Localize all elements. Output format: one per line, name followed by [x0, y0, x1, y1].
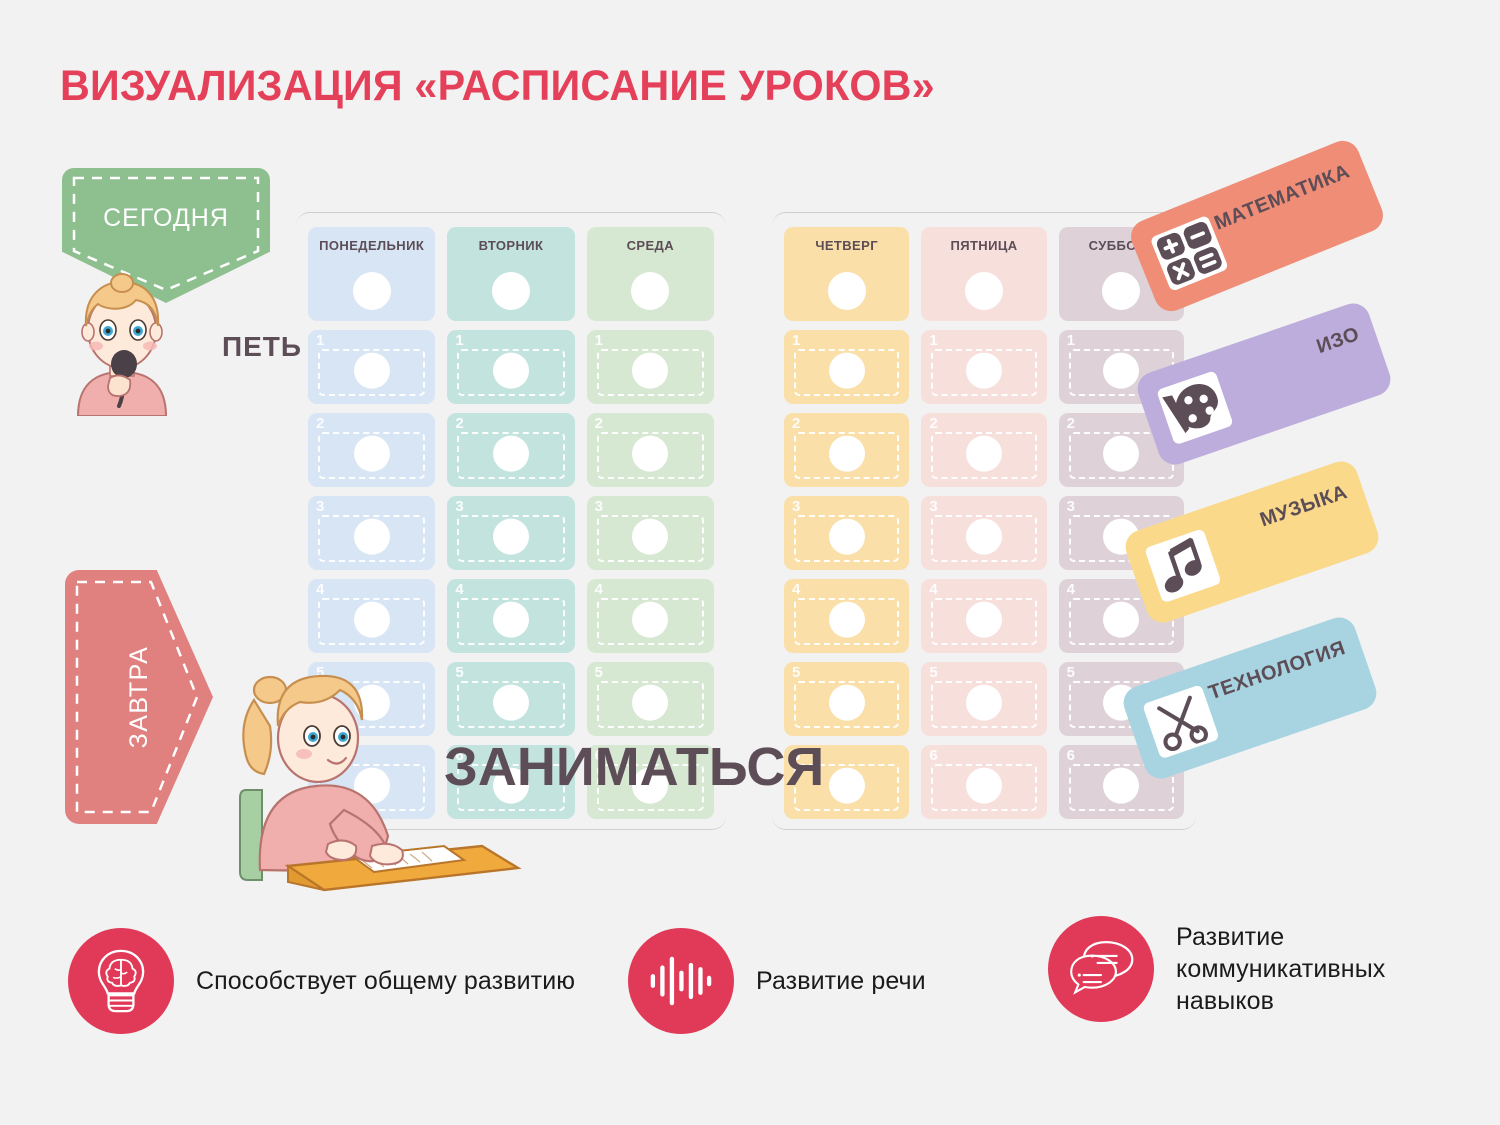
day-header[interactable]: СРЕДА [587, 227, 714, 321]
lesson-slot[interactable]: 2 [921, 413, 1046, 487]
lesson-slot-dot [1103, 768, 1139, 804]
word-study: ЗАНИМАТЬСЯ [444, 736, 824, 798]
lesson-slot-dot [1103, 602, 1139, 638]
lesson-slot-number: 2 [595, 415, 603, 432]
lesson-slot-number: 4 [455, 581, 463, 598]
lesson-slot[interactable]: 4 [587, 579, 714, 653]
badge-tomorrow-label: ЗАВТРА [12, 623, 266, 771]
badge-today-label: СЕГОДНЯ [103, 204, 229, 233]
lesson-slot-number: 1 [929, 332, 937, 349]
lesson-slot-dot [632, 518, 668, 554]
lesson-slot-dot [632, 352, 668, 388]
day-marker-dot [631, 272, 669, 310]
scissors-icon [1142, 684, 1220, 759]
day-name: ПОНЕДЕЛЬНИК [319, 238, 424, 253]
subject-label: МУЗЫКА [1257, 481, 1350, 532]
lesson-slot-number: 3 [316, 498, 324, 515]
feature-speech-development: Развитие речи [628, 928, 1028, 1034]
day-header[interactable]: ВТОРНИК [447, 227, 574, 321]
day-marker-dot [492, 272, 530, 310]
day-header[interactable]: ПОНЕДЕЛЬНИК [308, 227, 435, 321]
lesson-slot[interactable]: 1 [308, 330, 435, 404]
lesson-slot-dot [354, 352, 390, 388]
lesson-slot-number: 2 [792, 415, 800, 432]
subject-card-math[interactable]: МАТЕМАТИКА [1126, 136, 1388, 316]
lesson-slot-number: 2 [455, 415, 463, 432]
badge-tomorrow[interactable]: ЗАВТРА [65, 570, 213, 824]
lesson-slot[interactable]: 4 [308, 579, 435, 653]
lesson-slot[interactable]: 2 [308, 413, 435, 487]
lesson-slot-dot [829, 685, 865, 721]
lesson-slot-number: 4 [929, 581, 937, 598]
infographic-canvas: ВИЗУАЛИЗАЦИЯ «РАСПИСАНИЕ УРОКОВ» СЕГОДНЯ [0, 0, 1500, 1125]
palette-icon [1156, 370, 1234, 445]
lesson-slot-dot [829, 602, 865, 638]
lesson-slot[interactable]: 4 [784, 579, 909, 653]
sound-wave-icon [628, 928, 734, 1034]
day-marker-dot [353, 272, 391, 310]
lesson-slot[interactable]: 2 [784, 413, 909, 487]
day-name: ЧЕТВЕРГ [815, 238, 878, 253]
lesson-slot-dot [632, 435, 668, 471]
lesson-slot-dot [493, 602, 529, 638]
lesson-slot-dot [354, 435, 390, 471]
schedule-column: ПЯТНИЦА123456 [921, 227, 1046, 819]
lesson-slot[interactable]: 5 [921, 662, 1046, 736]
lesson-slot-number: 1 [1067, 332, 1075, 349]
lesson-slot-dot [829, 352, 865, 388]
feature-general-development: Способствует общему развитию [68, 928, 588, 1034]
lesson-slot[interactable]: 1 [447, 330, 574, 404]
child-singing-microphone-illustration [56, 268, 188, 416]
lesson-slot-number: 1 [792, 332, 800, 349]
lesson-slot-number: 6 [929, 747, 937, 764]
lesson-slot-number: 5 [929, 664, 937, 681]
lesson-slot[interactable]: 3 [447, 496, 574, 570]
lesson-slot-number: 1 [595, 332, 603, 349]
lesson-slot-number: 4 [1067, 581, 1075, 598]
speech-bubbles-icon [1048, 916, 1154, 1022]
lesson-slot[interactable]: 5 [784, 662, 909, 736]
lesson-slot-dot [966, 435, 1002, 471]
lesson-slot-number: 3 [455, 498, 463, 515]
lesson-slot[interactable]: 4 [447, 579, 574, 653]
lesson-slot-number: 5 [792, 664, 800, 681]
lesson-slot[interactable]: 3 [308, 496, 435, 570]
lesson-slot-number: 5 [1067, 664, 1075, 681]
subject-label: ИЗО [1314, 323, 1363, 359]
lesson-slot[interactable]: 5 [587, 662, 714, 736]
lesson-slot[interactable]: 1 [921, 330, 1046, 404]
lesson-slot[interactable]: 1 [587, 330, 714, 404]
feature-text: Развитие коммуникативных навыков [1176, 921, 1488, 1017]
lesson-slot-number: 3 [1067, 498, 1075, 515]
lesson-slot-number: 2 [929, 415, 937, 432]
lesson-slot-number: 3 [595, 498, 603, 515]
subject-label: МАТЕМАТИКА [1211, 160, 1353, 235]
day-marker-dot [828, 272, 866, 310]
lesson-slot-dot [493, 435, 529, 471]
lesson-slot[interactable]: 1 [784, 330, 909, 404]
feature-communication-skills: Развитие коммуникативных навыков [1048, 916, 1488, 1022]
day-header[interactable]: ЧЕТВЕРГ [784, 227, 909, 321]
lesson-slot[interactable]: 2 [447, 413, 574, 487]
lesson-slot-number: 4 [595, 581, 603, 598]
day-marker-dot [1102, 272, 1140, 310]
lesson-slot-dot [354, 518, 390, 554]
schedule-panel-right: ЧЕТВЕРГ123456ПЯТНИЦА123456СУББОТА123456 [772, 212, 1196, 830]
lesson-slot-dot [493, 518, 529, 554]
day-name: ПЯТНИЦА [950, 238, 1017, 253]
lesson-slot-dot [354, 602, 390, 638]
lesson-slot-dot [829, 768, 865, 804]
lesson-slot-dot [493, 352, 529, 388]
lesson-slot-dot [966, 602, 1002, 638]
subject-label: ТЕХНОЛОГИЯ [1206, 637, 1349, 705]
schedule-column: СРЕДА123456 [587, 227, 714, 819]
lesson-slot-dot [966, 685, 1002, 721]
lesson-slot[interactable]: 4 [921, 579, 1046, 653]
lesson-slot-dot [966, 768, 1002, 804]
lesson-slot-number: 5 [595, 664, 603, 681]
lesson-slot-dot [966, 352, 1002, 388]
lesson-slot-number: 3 [929, 498, 937, 515]
day-header[interactable]: ПЯТНИЦА [921, 227, 1046, 321]
lesson-slot-number: 2 [1067, 415, 1075, 432]
lesson-slot-number: 1 [455, 332, 463, 349]
lesson-slot[interactable]: 3 [587, 496, 714, 570]
lesson-slot-number: 3 [792, 498, 800, 515]
lesson-slot-number: 1 [316, 332, 324, 349]
lesson-slot[interactable]: 3 [921, 496, 1046, 570]
day-marker-dot [965, 272, 1003, 310]
lesson-slot[interactable]: 6 [921, 745, 1046, 819]
lesson-slot-number: 4 [792, 581, 800, 598]
lesson-slot-dot [966, 518, 1002, 554]
lesson-slot-dot [1103, 352, 1139, 388]
feature-text: Развитие речи [756, 965, 926, 997]
lesson-slot-dot [632, 602, 668, 638]
word-sing: ПЕТЬ [222, 331, 302, 363]
music-note-icon [1144, 528, 1222, 603]
page-title: ВИЗУАЛИЗАЦИЯ «РАСПИСАНИЕ УРОКОВ» [60, 62, 935, 111]
lesson-slot[interactable]: 2 [587, 413, 714, 487]
lesson-slot-number: 6 [1067, 747, 1075, 764]
lesson-slot-dot [829, 435, 865, 471]
day-name: СРЕДА [627, 238, 674, 253]
lesson-slot[interactable]: 3 [784, 496, 909, 570]
schedule-column: ЧЕТВЕРГ123456 [784, 227, 909, 819]
lesson-slot-dot [632, 685, 668, 721]
lesson-slot-number: 2 [316, 415, 324, 432]
lesson-slot-dot [1103, 435, 1139, 471]
feature-text: Способствует общему развитию [196, 965, 575, 997]
lesson-slot-number: 4 [316, 581, 324, 598]
lesson-slot-dot [829, 518, 865, 554]
lightbulb-brain-icon [68, 928, 174, 1034]
day-name: ВТОРНИК [479, 238, 544, 253]
